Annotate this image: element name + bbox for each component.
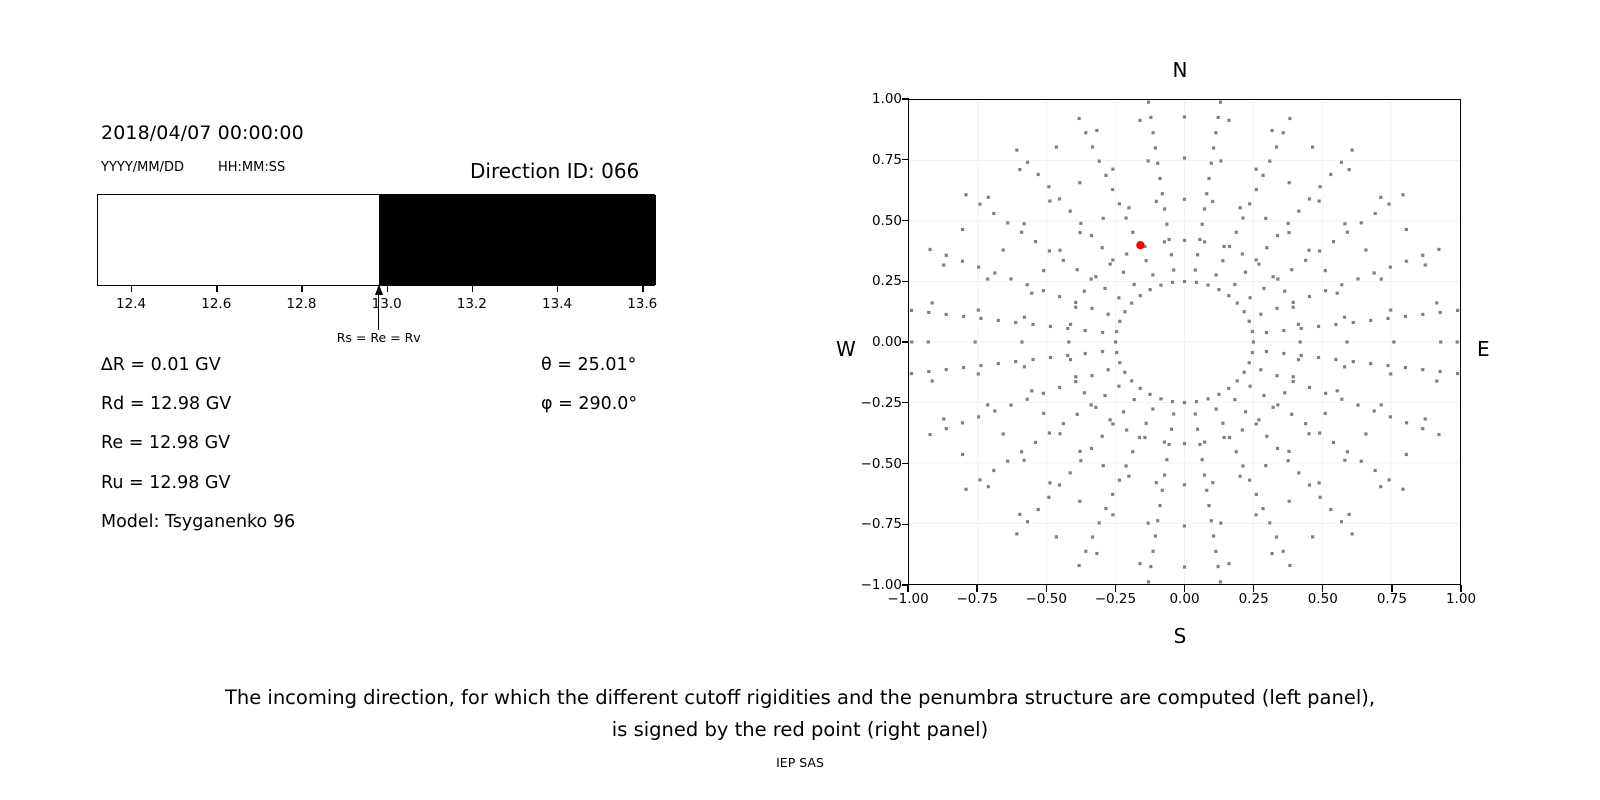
sky-grid-point	[1336, 292, 1339, 295]
sky-grid-point	[1248, 385, 1251, 388]
sky-grid-point	[1227, 119, 1230, 122]
sky-y-tick	[902, 463, 909, 464]
sky-grid-point	[1251, 330, 1254, 333]
sky-grid-point	[1364, 432, 1367, 435]
sky-grid-point	[1138, 436, 1141, 439]
sky-grid-point	[1369, 319, 1372, 322]
sky-grid-point	[1083, 290, 1086, 293]
sky-grid-point	[1124, 464, 1127, 467]
sky-grid-point	[1421, 254, 1424, 257]
sky-grid-point	[927, 340, 930, 343]
sky-grid-point	[978, 203, 981, 206]
sky-grid-point	[1042, 269, 1045, 272]
sky-grid-point	[961, 260, 964, 263]
sky-grid-point	[962, 366, 965, 369]
sky-grid-point	[1161, 192, 1164, 195]
sky-grid-point	[1233, 398, 1236, 401]
sky-grid-point	[1364, 248, 1367, 251]
sky-grid-point	[1098, 521, 1101, 524]
sky-grid-point	[1078, 181, 1081, 184]
sky-grid-point	[1090, 374, 1093, 377]
sky-grid-point	[1048, 200, 1051, 203]
sky-y-tick-label: 0.00	[872, 334, 902, 350]
sky-grid-point	[1275, 307, 1278, 310]
sky-grid-point	[1257, 263, 1260, 266]
sky-grid-point	[1098, 160, 1101, 163]
sky-grid-point	[1360, 221, 1363, 224]
sky-x-tick	[976, 585, 977, 592]
sky-grid-point	[910, 340, 913, 343]
sky-grid-point	[1332, 441, 1335, 444]
sky-grid-point	[1275, 145, 1278, 148]
sky-grid-point	[997, 362, 1000, 365]
sky-grid-point	[1272, 275, 1275, 278]
sky-grid-point	[1111, 513, 1114, 516]
sky-grid-point	[1084, 131, 1087, 134]
sky-grid-point	[1109, 263, 1112, 266]
sky-grid-point	[1243, 371, 1246, 374]
sky-grid-point	[1183, 442, 1186, 445]
sky-grid-point	[1210, 519, 1213, 522]
sky-grid-point	[1212, 146, 1215, 149]
selected-direction-point[interactable]	[1136, 241, 1144, 249]
sky-grid-point	[1159, 284, 1162, 287]
sky-grid-point	[1037, 173, 1040, 176]
sky-grid-point	[1078, 450, 1081, 453]
sky-grid-point	[1115, 351, 1118, 354]
sky-grid-point	[1308, 197, 1311, 200]
sky-grid-point	[986, 403, 989, 406]
sky-grid-point	[1317, 356, 1320, 359]
sky-grid-point	[1103, 394, 1106, 397]
sky-grid-point	[1020, 340, 1023, 343]
sky-grid-point	[1118, 202, 1121, 205]
sky-grid-point	[1158, 504, 1161, 507]
sky-grid-point	[987, 485, 990, 488]
sky-grid-point	[1307, 432, 1310, 435]
sky-grid-point	[1079, 459, 1082, 462]
sky-grid-point	[1198, 238, 1201, 241]
sky-grid-point	[1107, 313, 1110, 316]
sky-grid-point	[1248, 296, 1251, 299]
sky-grid-point	[1149, 565, 1152, 568]
sky-grid-point	[910, 372, 913, 375]
sky-grid-point	[1276, 234, 1279, 237]
sky-grid-point	[1299, 340, 1302, 343]
sky-grid-point	[1265, 246, 1268, 249]
sky-grid-point	[1317, 200, 1320, 203]
sky-grid-point	[1259, 368, 1262, 371]
compass-label-west: W	[836, 337, 856, 361]
sky-grid-point	[1233, 283, 1236, 286]
sky-grid-point	[1227, 294, 1230, 297]
sky-grid-point	[1058, 197, 1061, 200]
sky-grid-point	[1058, 483, 1061, 486]
sky-grid-point	[1125, 428, 1128, 431]
sky-grid-point	[1352, 360, 1355, 363]
sky-grid-point	[964, 488, 967, 491]
sky-grid-point	[1006, 221, 1009, 224]
sky-grid-point	[1171, 281, 1174, 284]
sky-x-tick	[1460, 585, 1461, 592]
sky-grid-point	[1031, 323, 1034, 326]
sky-grid-point	[1288, 117, 1291, 120]
sky-grid-point	[1078, 117, 1081, 120]
sky-grid-point	[1133, 283, 1136, 286]
sky-grid-point	[1439, 340, 1442, 343]
sky-grid-point	[1066, 327, 1069, 330]
sky-grid-point	[1183, 198, 1186, 201]
sky-grid-point	[1311, 146, 1314, 149]
sky-grid-point	[986, 278, 989, 281]
sky-grid-point	[1319, 496, 1322, 499]
time-format-label: HH:MM:SS	[218, 160, 285, 175]
sky-grid-point	[1243, 310, 1246, 313]
sky-grid-point	[974, 340, 977, 343]
sky-grid-point	[1117, 385, 1120, 388]
sky-grid-point	[1265, 331, 1268, 334]
sky-grid-point	[1264, 464, 1267, 467]
sky-grid-point	[1074, 301, 1077, 304]
sky-grid-point	[1195, 281, 1198, 284]
sky-grid-point	[1236, 379, 1239, 382]
sky-grid-point	[1304, 422, 1307, 425]
sky-y-tick-label: 0.50	[872, 213, 902, 229]
sky-grid-point	[1297, 358, 1300, 361]
sky-grid-point	[1241, 428, 1244, 431]
sky-grid-point	[1221, 422, 1224, 425]
sky-grid-point	[1276, 403, 1279, 406]
sky-grid-point	[1334, 358, 1337, 361]
sky-grid-point	[1244, 410, 1247, 413]
sky-grid-point	[1255, 422, 1258, 425]
sky-grid-point	[1111, 188, 1114, 191]
sky-grid-point	[1114, 340, 1117, 343]
sky-grid-point	[964, 193, 967, 196]
sky-grid-point	[1183, 239, 1186, 242]
sky-grid-point	[1207, 177, 1210, 180]
sky-grid-point	[1058, 249, 1061, 252]
sky-grid-point	[1248, 320, 1251, 323]
sky-grid-point	[1042, 289, 1045, 292]
sky-grid-point	[1078, 500, 1081, 503]
sky-grid-point	[1248, 202, 1251, 205]
sky-grid-point	[1214, 131, 1217, 134]
sky-grid-point	[1127, 206, 1130, 209]
sky-grid-point	[1058, 295, 1061, 298]
sky-grid-point	[1207, 504, 1210, 507]
sky-grid-point	[977, 415, 980, 418]
sky-grid-point	[1439, 370, 1442, 373]
sky-grid-point	[927, 370, 930, 373]
sky-grid-point	[1020, 450, 1023, 453]
sky-grid-point	[1297, 471, 1300, 474]
sky-grid-point	[1095, 552, 1098, 555]
sky-x-tick	[1253, 585, 1254, 592]
sky-grid-point	[1084, 329, 1087, 332]
sky-grid-point	[1248, 361, 1251, 364]
cutoff-arrow-head	[375, 284, 383, 295]
sky-grid-point	[1332, 240, 1335, 243]
sky-grid-point	[1139, 294, 1142, 297]
sky-x-tick	[1046, 585, 1047, 592]
sky-grid-point	[1401, 193, 1404, 196]
sky-grid-point	[1026, 398, 1029, 401]
sky-grid-point	[1030, 389, 1033, 392]
sky-y-tick-label: −0.25	[861, 395, 902, 411]
sky-grid-point	[1198, 443, 1201, 446]
sky-scatter-svg	[909, 100, 1460, 584]
sky-grid-point	[1319, 185, 1322, 188]
sky-grid-point	[1018, 168, 1021, 171]
sky-grid-point	[979, 317, 982, 320]
sky-grid-point	[1221, 259, 1224, 262]
sky-grid-point	[1156, 519, 1159, 522]
compass-label-east: E	[1477, 337, 1490, 361]
sky-grid-point	[993, 409, 996, 412]
sky-grid-point	[1069, 210, 1072, 213]
sky-grid-point	[1206, 284, 1209, 287]
sky-y-axis-labels: 1.000.750.500.250.00−0.25−0.50−0.75−1.00	[860, 99, 902, 585]
sky-grid-point	[1055, 146, 1058, 149]
sky-grid-point	[1104, 507, 1107, 510]
sky-grid-point	[1069, 323, 1072, 326]
sky-grid-point	[1074, 306, 1077, 309]
sky-grid-point	[1102, 464, 1105, 467]
sky-grid-point	[1074, 380, 1077, 383]
sky-grid-point	[1217, 116, 1220, 119]
sky-grid-point	[1262, 287, 1265, 290]
sky-grid-point	[942, 263, 945, 266]
sky-y-tick-label: 0.25	[872, 273, 902, 289]
sky-grid-point	[1067, 340, 1070, 343]
sky-grid-point	[1288, 500, 1291, 503]
sky-grid-point	[1219, 580, 1222, 583]
sky-grid-point	[1172, 268, 1175, 271]
sky-grid-point	[1252, 340, 1255, 343]
sky-grid-point	[1107, 368, 1110, 371]
sky-grid-point	[1241, 216, 1244, 219]
sky-grid-point	[1009, 277, 1012, 280]
sky-grid-point	[1389, 372, 1392, 375]
sky-grid-point	[1386, 364, 1389, 367]
sky-y-tick	[902, 524, 909, 525]
param-left-2: Re = 12.98 GV	[101, 433, 230, 453]
sky-grid-point	[1026, 283, 1029, 286]
sky-grid-point	[1405, 453, 1408, 456]
sky-grid-point	[1002, 248, 1005, 251]
sky-grid-point	[1227, 562, 1230, 565]
sky-grid-point	[1343, 316, 1346, 319]
sky-grid-point	[1079, 222, 1082, 225]
sky-grid-point	[1118, 479, 1121, 482]
sky-grid-point	[1131, 450, 1134, 453]
datetime-value: 2018/04/07 00:00:00	[101, 122, 304, 144]
sky-grid-point	[1219, 159, 1222, 162]
sky-grid-point	[1343, 459, 1346, 462]
sky-grid-point	[1268, 521, 1271, 524]
sky-y-tick-label: −0.50	[861, 456, 902, 472]
sky-grid-point	[1389, 308, 1392, 311]
sky-grid-point	[1118, 361, 1121, 364]
sky-scatter-plot	[908, 99, 1461, 585]
sky-grid-point	[1047, 496, 1050, 499]
sky-grid-point	[962, 315, 965, 318]
sky-grid-point	[1308, 483, 1311, 486]
sky-grid-point	[945, 427, 948, 430]
sky-grid-point	[1235, 231, 1238, 234]
sky-grid-point	[1183, 483, 1186, 486]
sky-grid-point	[1009, 404, 1012, 407]
caption-line-2: is signed by the red point (right panel)	[0, 714, 1600, 746]
sky-grid-point	[1151, 407, 1154, 410]
sky-grid-point	[1042, 392, 1045, 395]
sky-grid-point	[1090, 447, 1093, 450]
sky-grid-point	[1090, 234, 1093, 237]
penumbra-plot	[97, 194, 655, 286]
sky-grid-point	[1222, 245, 1225, 248]
sky-grid-point	[1183, 115, 1186, 118]
sky-grid-point	[1311, 535, 1314, 538]
sky-grid-point	[1201, 223, 1204, 226]
sky-grid-point	[1015, 148, 1018, 151]
sky-grid-point	[1244, 271, 1247, 274]
sky-grid-point	[1152, 550, 1155, 553]
sky-grid-point	[1201, 458, 1204, 461]
sky-grid-point	[1203, 240, 1206, 243]
sky-grid-point	[1158, 177, 1161, 180]
sky-grid-point	[1287, 450, 1290, 453]
sky-y-tick	[902, 98, 909, 99]
sky-grid-point	[1147, 101, 1150, 104]
sky-grid-point	[1090, 403, 1093, 406]
sky-grid-point	[1152, 131, 1155, 134]
sky-grid-point	[1101, 246, 1104, 249]
sky-grid-point	[1324, 412, 1327, 415]
sky-grid-point	[1168, 443, 1171, 446]
sky-y-tick	[902, 402, 909, 403]
sky-grid-point	[1283, 290, 1286, 293]
sky-grid-point	[1183, 565, 1186, 568]
sky-grid-point	[1101, 350, 1104, 353]
sky-grid-point	[1456, 372, 1459, 375]
sky-grid-point	[1091, 145, 1094, 148]
sky-x-axis-labels: −1.00−0.75−0.50−0.250.000.250.500.751.00	[908, 591, 1461, 613]
sky-grid-point	[931, 301, 934, 304]
sky-grid-point	[1026, 520, 1029, 523]
sky-grid-point	[1439, 311, 1442, 314]
sky-y-tick-label: 0.75	[872, 152, 902, 168]
sky-x-axis-ticks	[908, 585, 1461, 594]
sky-grid-point	[1165, 223, 1168, 226]
sky-grid-point	[1203, 207, 1206, 210]
sky-grid-point	[1374, 212, 1377, 215]
sky-grid-point	[992, 212, 995, 215]
sky-grid-point	[1194, 268, 1197, 271]
sky-grid-point	[1292, 301, 1295, 304]
sky-x-tick	[1322, 585, 1323, 592]
sky-grid-point	[1155, 481, 1158, 484]
sky-grid-point	[1308, 295, 1311, 298]
sky-grid-point	[910, 309, 913, 312]
sky-grid-point	[1030, 292, 1033, 295]
sky-grid-point	[1275, 374, 1278, 377]
compass-label-north: N	[1173, 58, 1188, 82]
sky-grid-point	[1392, 340, 1395, 343]
sky-grid-point	[1265, 350, 1268, 353]
sky-grid-point	[1329, 173, 1332, 176]
sky-grid-point	[1161, 489, 1164, 492]
sky-y-tick	[902, 341, 909, 342]
sky-grid-point	[1163, 473, 1166, 476]
sky-grid-point	[1055, 535, 1058, 538]
sky-grid-point	[1318, 249, 1321, 252]
sky-grid-point	[1205, 192, 1208, 195]
sky-grid-point	[1345, 340, 1348, 343]
compass-label-south: S	[1174, 624, 1187, 648]
sky-y-axis-ticks	[900, 99, 909, 585]
sky-grid-point	[1048, 249, 1051, 252]
sky-grid-point	[1196, 428, 1199, 431]
date-format-label: YYYY/MM/DD	[101, 160, 184, 175]
sky-grid-point	[1049, 356, 1052, 359]
sky-grid-point	[1147, 522, 1150, 525]
sky-grid-point	[1095, 129, 1098, 132]
sky-y-tick	[902, 281, 909, 282]
sky-grid-point	[1307, 249, 1310, 252]
sky-grid-point	[1239, 475, 1242, 478]
sky-grid-point	[1163, 441, 1166, 444]
sky-grid-point	[1456, 340, 1459, 343]
sky-grid-point	[961, 421, 964, 424]
sky-grid-point	[1206, 397, 1209, 400]
sky-grid-point	[979, 364, 982, 367]
sky-y-tick-label: 1.00	[872, 91, 902, 107]
sky-grid-point	[1034, 441, 1037, 444]
sky-x-tick	[907, 585, 908, 592]
param-right-0: θ = 25.01°	[541, 355, 636, 375]
sky-grid-point	[1304, 259, 1307, 262]
sky-grid-point	[1283, 391, 1286, 394]
sky-x-tick	[1184, 585, 1185, 592]
sky-grid-point	[1023, 316, 1026, 319]
sky-grid-point	[1387, 203, 1390, 206]
sky-grid-point	[1031, 358, 1034, 361]
sky-grid-point	[1255, 188, 1258, 191]
sky-grid-point	[1380, 403, 1383, 406]
sky-grid-point	[1435, 379, 1438, 382]
sky-grid-point	[1074, 375, 1077, 378]
sky-grid-point	[1165, 458, 1168, 461]
sky-grid-point	[1069, 358, 1072, 361]
sky-grid-point	[1265, 435, 1268, 438]
sky-grid-point	[1300, 327, 1303, 330]
sky-grid-point	[1346, 450, 1349, 453]
sky-grid-point	[1145, 422, 1148, 425]
sky-grid-point	[1062, 422, 1065, 425]
sky-grid-point	[1239, 206, 1242, 209]
sky-grid-point	[1215, 273, 1218, 276]
sky-grid-point	[1109, 418, 1112, 421]
sky-grid-point	[1351, 148, 1354, 151]
sky-grid-point	[1360, 460, 1363, 463]
sky-grid-point	[1111, 168, 1114, 171]
sky-grid-point	[1159, 397, 1162, 400]
left-panel: 2018/04/07 00:00:00 YYYY/MM/DDHH:MM:SS D…	[0, 0, 760, 660]
sky-grid-point	[1103, 287, 1106, 290]
sky-grid-point	[1101, 435, 1104, 438]
sky-grid-point	[1356, 404, 1359, 407]
